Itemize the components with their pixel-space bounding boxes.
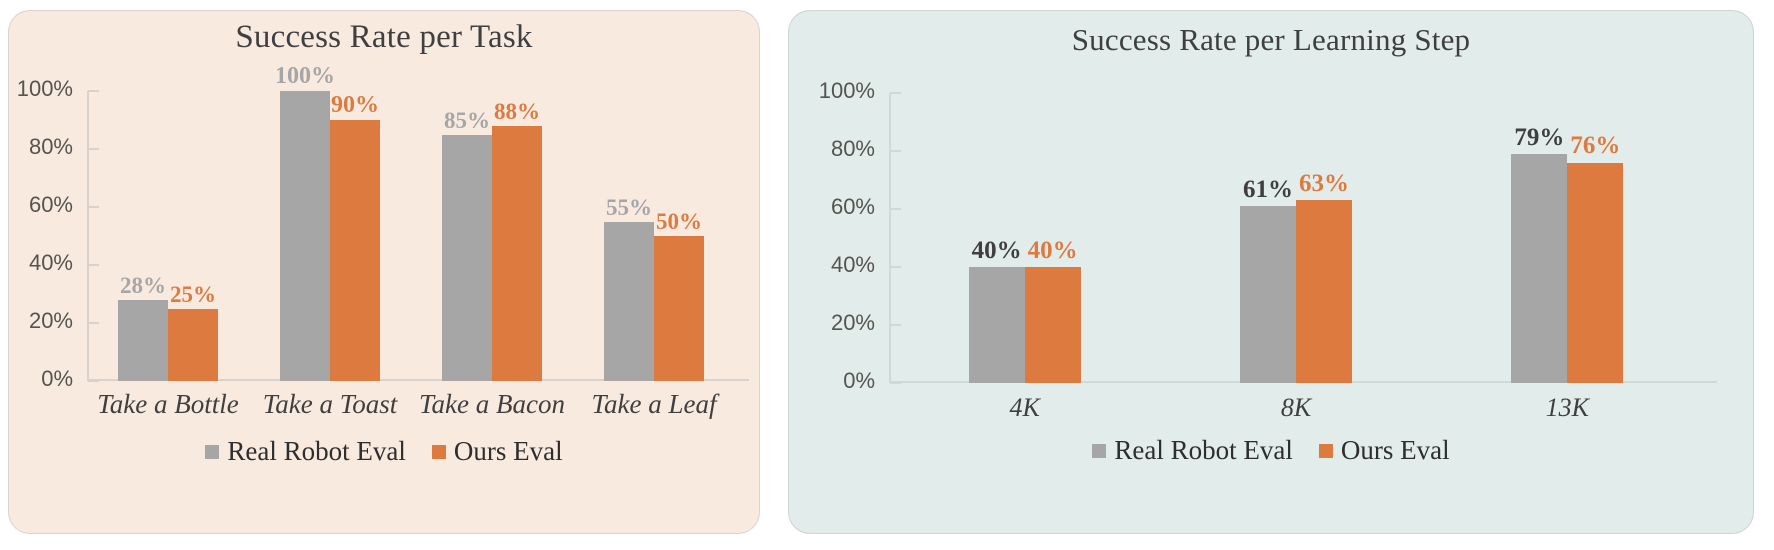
legend-label: Ours Eval [454, 436, 563, 467]
bar-wrap-ours: 88% [492, 91, 542, 381]
legend-swatch-icon [1092, 444, 1106, 458]
category-label-take-a-bottle: Take a Bottle [87, 389, 249, 420]
bar-value-label: 40% [983, 238, 1123, 263]
bar-real-robot-eval[interactable] [442, 135, 492, 382]
bar-value-label: 50% [609, 210, 749, 233]
legend-item-ours-eval[interactable]: Ours Eval [432, 436, 563, 467]
bar-wrap-real-robot: 85% [442, 91, 492, 381]
chart-title-left: Success Rate per Task [9, 19, 759, 56]
legend-label: Real Robot Eval [227, 436, 405, 467]
bar-wrap-real-robot: 100% [280, 91, 330, 381]
bar-groups-left: 28% 25% 100% [87, 91, 735, 381]
bar-ours-eval[interactable] [654, 236, 704, 381]
bar-wrap-real-robot: 55% [604, 91, 654, 381]
chart-panel-success-rate-per-task: Success Rate per Task 100% 80% 60% 40% [8, 10, 760, 534]
bar-group-8k: 61% 63% [1160, 93, 1431, 383]
legend-right: Real Robot Eval Ours Eval [789, 435, 1753, 466]
chart-panel-success-rate-per-learning-step: Success Rate per Learning Step 100% 80% … [788, 10, 1754, 534]
category-label-13k: 13K [1432, 393, 1703, 423]
category-label-take-a-bacon: Take a Bacon [411, 389, 573, 420]
bar-value-label: 100% [235, 64, 375, 88]
plot-area-right: 100% 80% 60% 40% 20% 0% [889, 93, 1703, 383]
bar-wrap-real-robot: 28% [118, 91, 168, 381]
bar-value-label: 25% [123, 283, 263, 306]
bar-group-4k: 40% 40% [889, 93, 1160, 383]
plot-area-left: 100% 80% 60% 40% 20% 0% [87, 91, 735, 381]
legend-label: Real Robot Eval [1114, 435, 1292, 466]
bar-group-take-a-toast: 100% 90% [249, 91, 411, 381]
bar-wrap-ours: 50% [654, 91, 704, 381]
category-label-4k: 4K [889, 393, 1160, 423]
bar-real-robot-eval[interactable] [118, 300, 168, 381]
category-labels-right: 4K 8K 13K [889, 393, 1703, 423]
bar-ours-eval[interactable] [330, 120, 380, 381]
bar-group-take-a-leaf: 55% 50% [573, 91, 735, 381]
bar-real-robot-eval[interactable] [1511, 154, 1567, 383]
legend-label: Ours Eval [1341, 435, 1450, 466]
bar-ours-eval[interactable] [1296, 200, 1352, 383]
legend-swatch-icon [1319, 444, 1333, 458]
bar-value-label: 88% [447, 100, 587, 123]
bar-ours-eval[interactable] [1567, 163, 1623, 383]
legend-swatch-icon [205, 445, 219, 459]
bar-real-robot-eval[interactable] [604, 222, 654, 382]
bar-wrap-ours: 76% [1567, 93, 1623, 383]
category-label-take-a-leaf: Take a Leaf [573, 389, 735, 420]
bar-wrap-ours: 25% [168, 91, 218, 381]
category-label-8k: 8K [1160, 393, 1431, 423]
bar-ours-eval[interactable] [1025, 267, 1081, 383]
bar-wrap-ours: 63% [1296, 93, 1352, 383]
legend-swatch-icon [432, 445, 446, 459]
legend-item-real-robot-eval[interactable]: Real Robot Eval [205, 436, 405, 467]
figure-root: Success Rate per Task 100% 80% 60% 40% [0, 0, 1774, 550]
category-label-take-a-toast: Take a Toast [249, 389, 411, 420]
bar-group-take-a-bottle: 28% 25% [87, 91, 249, 381]
bar-wrap-ours: 90% [330, 91, 380, 381]
bar-real-robot-eval[interactable] [1240, 206, 1296, 383]
category-labels-left: Take a Bottle Take a Toast Take a Bacon … [87, 389, 735, 420]
bar-value-label: 76% [1525, 133, 1665, 158]
bar-groups-right: 40% 40% 61% [889, 93, 1703, 383]
legend-item-real-robot-eval[interactable]: Real Robot Eval [1092, 435, 1292, 466]
bar-ours-eval[interactable] [492, 126, 542, 381]
bar-group-take-a-bacon: 85% 88% [411, 91, 573, 381]
bar-value-label: 63% [1254, 171, 1394, 196]
bar-real-robot-eval[interactable] [280, 91, 330, 381]
bar-ours-eval[interactable] [168, 309, 218, 382]
legend-left: Real Robot Eval Ours Eval [9, 436, 759, 467]
bar-real-robot-eval[interactable] [969, 267, 1025, 383]
legend-item-ours-eval[interactable]: Ours Eval [1319, 435, 1450, 466]
chart-title-right: Success Rate per Learning Step [789, 22, 1753, 58]
bar-wrap-ours: 40% [1025, 93, 1081, 383]
bar-group-13k: 79% 76% [1432, 93, 1703, 383]
bar-wrap-real-robot: 61% [1240, 93, 1296, 383]
